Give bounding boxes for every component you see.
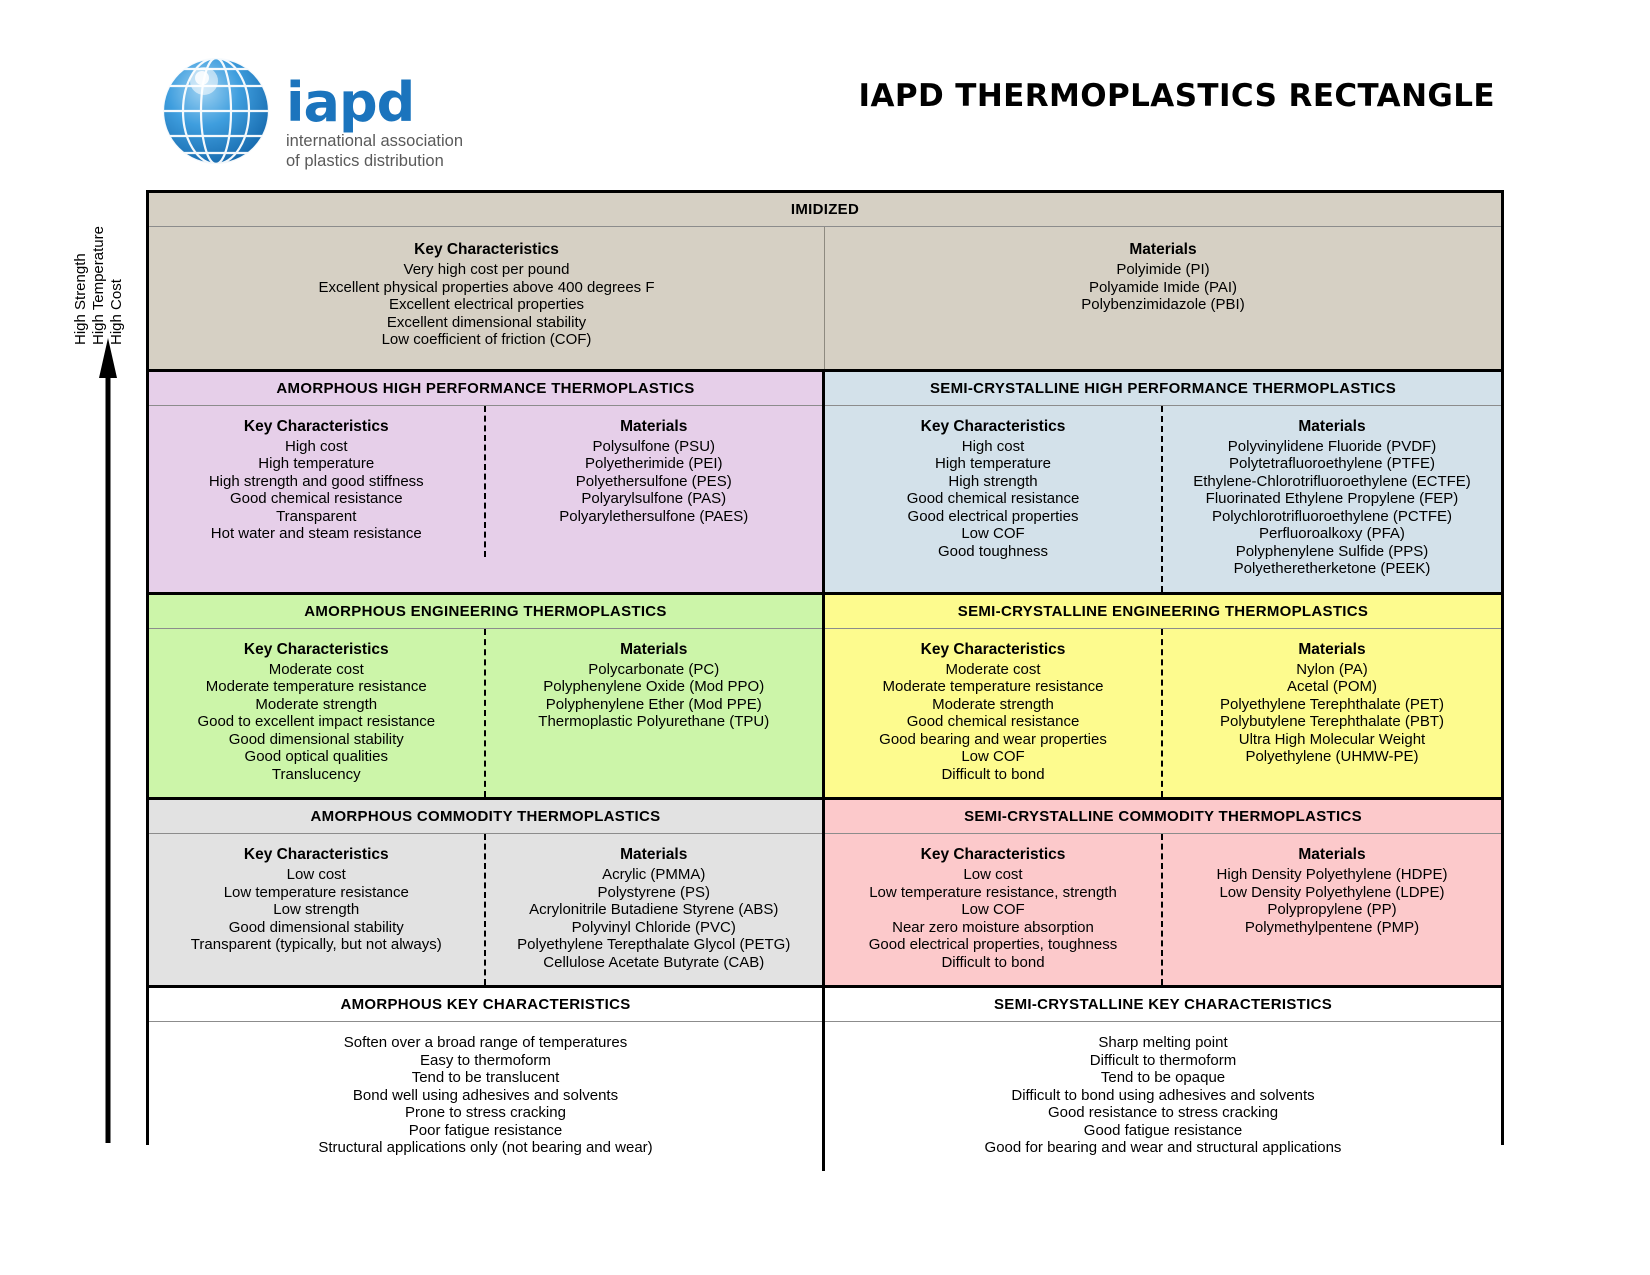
list-item: Fluorinated Ethylene Propylene (FEP) bbox=[1173, 490, 1491, 508]
list-item: Acrylonitrile Butadiene Styrene (ABS) bbox=[496, 901, 813, 919]
band-imidized: IMIDIZED Key Characteristics Very high c… bbox=[149, 193, 1501, 372]
list-item: Difficult to bond using adhesives and so… bbox=[835, 1087, 1491, 1105]
list-item: Polyetherimide (PEI) bbox=[496, 455, 813, 473]
list-item: Polyvinyl Chloride (PVC) bbox=[496, 919, 813, 937]
band-title-amorphous-high-performance: AMORPHOUS HIGH PERFORMANCE THERMOPLASTIC… bbox=[149, 372, 822, 406]
semicrystalline-high-performance: SEMI-CRYSTALLINE HIGH PERFORMANCE THERMO… bbox=[825, 372, 1501, 592]
list-item: High cost bbox=[835, 438, 1151, 456]
key-characteristics-cell: Key Characteristics High cost High tempe… bbox=[149, 406, 486, 557]
list-item: Low strength bbox=[159, 901, 474, 919]
list-item: Good electrical properties bbox=[835, 508, 1151, 526]
list-item: Polyethylene Terepthalate Glycol (PETG) bbox=[496, 936, 813, 954]
list-item: Bond well using adhesives and solvents bbox=[159, 1087, 812, 1105]
axis-label-high-temperature: High Temperature bbox=[90, 195, 108, 345]
list-item: Polyphenylene Sulfide (PPS) bbox=[1173, 543, 1491, 561]
key-characteristics-cell: Key Characteristics High cost High tempe… bbox=[825, 406, 1163, 592]
thermoplastics-rectangle-page: iapd international association of plasti… bbox=[0, 0, 1650, 1275]
amorphous-commodity: AMORPHOUS COMMODITY THERMOPLASTICS Key C… bbox=[149, 800, 825, 985]
cell-heading: Materials bbox=[1173, 418, 1491, 436]
list-item: Good to excellent impact resistance bbox=[159, 713, 474, 731]
amorphous-engineering: AMORPHOUS ENGINEERING THERMOPLASTICS Key… bbox=[149, 595, 825, 798]
list-item: Polyphenylene Oxide (Mod PPO) bbox=[496, 678, 813, 696]
list-item: Good chemical resistance bbox=[835, 490, 1151, 508]
list-item: Tend to be translucent bbox=[159, 1069, 812, 1087]
list-item: Good chemical resistance bbox=[835, 713, 1151, 731]
cell-heading: Key Characteristics bbox=[835, 846, 1151, 864]
materials-cell: Materials Polyvinylidene Fluoride (PVDF)… bbox=[1163, 406, 1501, 592]
list-item: Polybenzimidazole (PBI) bbox=[835, 296, 1491, 314]
list-item: Low cost bbox=[159, 866, 474, 884]
page-header: iapd international association of plasti… bbox=[0, 0, 1650, 190]
list-item: Sharp melting point bbox=[835, 1034, 1491, 1052]
materials-cell: Materials Acrylic (PMMA) Polystyrene (PS… bbox=[486, 834, 823, 985]
list-item: Cellulose Acetate Butyrate (CAB) bbox=[496, 954, 813, 972]
key-characteristics-cell: Key Characteristics Low cost Low tempera… bbox=[825, 834, 1163, 985]
band-key-characteristics-summary: AMORPHOUS KEY CHARACTERISTICS Soften ove… bbox=[149, 988, 1501, 1171]
list-item: Hot water and steam resistance bbox=[159, 525, 474, 543]
band-body: Key Characteristics Moderate cost Modera… bbox=[149, 629, 822, 798]
list-item: High strength bbox=[835, 473, 1151, 491]
thermoplastics-rectangle: IMIDIZED Key Characteristics Very high c… bbox=[146, 190, 1504, 1145]
list-item: Polybutylene Terephthalate (PBT) bbox=[1173, 713, 1491, 731]
list-item: Polyvinylidene Fluoride (PVDF) bbox=[1173, 438, 1491, 456]
list-item: Good dimensional stability bbox=[159, 919, 474, 937]
cell-heading: Materials bbox=[496, 418, 813, 436]
list-item: Moderate cost bbox=[835, 661, 1151, 679]
list-item: Good chemical resistance bbox=[159, 490, 474, 508]
page-title: IAPD THERMOPLASTICS RECTANGLE bbox=[859, 78, 1495, 114]
list-item: Polyetheretherketone (PEEK) bbox=[1173, 560, 1491, 578]
list-item: Excellent dimensional stability bbox=[159, 314, 814, 332]
list-item: Polystyrene (PS) bbox=[496, 884, 813, 902]
cell-heading: Key Characteristics bbox=[159, 846, 474, 864]
list-item: High temperature bbox=[159, 455, 474, 473]
list-item: Low temperature resistance, strength bbox=[835, 884, 1151, 902]
list-item: Low Density Polyethylene (LDPE) bbox=[1173, 884, 1491, 902]
axis-label-high-strength: High Strength bbox=[72, 195, 90, 345]
list-item: Polyethersulfone (PES) bbox=[496, 473, 813, 491]
list-item: Low cost bbox=[835, 866, 1151, 884]
list-item: Good toughness bbox=[835, 543, 1151, 561]
band-body-imidized: Key Characteristics Very high cost per p… bbox=[149, 227, 1501, 369]
amorphous-key-characteristics: AMORPHOUS KEY CHARACTERISTICS Soften ove… bbox=[149, 988, 825, 1171]
band-engineering: AMORPHOUS ENGINEERING THERMOPLASTICS Key… bbox=[149, 595, 1501, 801]
list-item: Transparent bbox=[159, 508, 474, 526]
list-item: Low COF bbox=[835, 525, 1151, 543]
band-body: Key Characteristics High cost High tempe… bbox=[825, 406, 1501, 592]
list-item: Moderate strength bbox=[835, 696, 1151, 714]
list-item: Polyimide (PI) bbox=[835, 261, 1491, 279]
cell-heading: Key Characteristics bbox=[159, 641, 474, 659]
materials-cell: Materials Polycarbonate (PC) Polyphenyle… bbox=[486, 629, 823, 798]
band-body: Key Characteristics Low cost Low tempera… bbox=[825, 834, 1501, 985]
logo-wordmark: iapd bbox=[286, 75, 463, 131]
iapd-logo: iapd international association of plasti… bbox=[160, 55, 463, 171]
list-item: Difficult to bond bbox=[835, 766, 1151, 784]
list-item: Polypropylene (PP) bbox=[1173, 901, 1491, 919]
band-high-performance: AMORPHOUS HIGH PERFORMANCE THERMOPLASTIC… bbox=[149, 372, 1501, 595]
list-item: Good electrical properties, toughness bbox=[835, 936, 1151, 954]
imidized-key-characteristics: Key Characteristics Very high cost per p… bbox=[149, 227, 825, 369]
list-item: Excellent physical properties above 400 … bbox=[159, 279, 814, 297]
list-item: Moderate temperature resistance bbox=[159, 678, 474, 696]
key-characteristics-cell: Key Characteristics Moderate cost Modera… bbox=[825, 629, 1163, 798]
list-item: High temperature bbox=[835, 455, 1151, 473]
cell-heading: Materials bbox=[496, 641, 813, 659]
cell-heading: Key Characteristics bbox=[159, 241, 814, 259]
band-body: Key Characteristics Low cost Low tempera… bbox=[149, 834, 822, 985]
band-title-semicrystalline-key-characteristics: SEMI-CRYSTALLINE KEY CHARACTERISTICS bbox=[825, 988, 1501, 1022]
band-body: Soften over a broad range of temperature… bbox=[149, 1022, 822, 1171]
list-item: Good optical qualities bbox=[159, 748, 474, 766]
list-item: Low temperature resistance bbox=[159, 884, 474, 902]
list-item: Low COF bbox=[835, 748, 1151, 766]
band-body: Key Characteristics High cost High tempe… bbox=[149, 406, 822, 557]
list-item: Polyarylsulfone (PAS) bbox=[496, 490, 813, 508]
list-item: Acrylic (PMMA) bbox=[496, 866, 813, 884]
logo-subtitle-line-1: international association bbox=[286, 131, 463, 151]
list-item: Very high cost per pound bbox=[159, 261, 814, 279]
amorphous-high-performance: AMORPHOUS HIGH PERFORMANCE THERMOPLASTIC… bbox=[149, 372, 825, 592]
list-item: Moderate cost bbox=[159, 661, 474, 679]
list-item: Translucency bbox=[159, 766, 474, 784]
list-item: High strength and good stiffness bbox=[159, 473, 474, 491]
list-item: Near zero moisture absorption bbox=[835, 919, 1151, 937]
imidized-materials: Materials Polyimide (PI) Polyamide Imide… bbox=[825, 227, 1501, 369]
semicrystalline-commodity: SEMI-CRYSTALLINE COMMODITY THERMOPLASTIC… bbox=[825, 800, 1501, 985]
list-item: Poor fatigue resistance bbox=[159, 1122, 812, 1140]
list-item: Tend to be opaque bbox=[835, 1069, 1491, 1087]
list-item: Structural applications only (not bearin… bbox=[159, 1139, 812, 1157]
cell-heading: Materials bbox=[496, 846, 813, 864]
cell-heading: Key Characteristics bbox=[835, 418, 1151, 436]
cell-heading: Key Characteristics bbox=[159, 418, 474, 436]
axis-label-high-cost: High Cost bbox=[108, 195, 126, 345]
band-title-amorphous-commodity: AMORPHOUS COMMODITY THERMOPLASTICS bbox=[149, 800, 822, 834]
list-item: Good bearing and wear properties bbox=[835, 731, 1151, 749]
list-item: Prone to stress cracking bbox=[159, 1104, 812, 1122]
list-item: Polyamide Imide (PAI) bbox=[835, 279, 1491, 297]
semicrystalline-key-characteristics: SEMI-CRYSTALLINE KEY CHARACTERISTICS Sha… bbox=[825, 988, 1501, 1171]
list-item: Ethylene-Chlorotrifluoroethylene (ECTFE) bbox=[1173, 473, 1491, 491]
band-title-amorphous-key-characteristics: AMORPHOUS KEY CHARACTERISTICS bbox=[149, 988, 822, 1022]
list-item: Polysulfone (PSU) bbox=[496, 438, 813, 456]
up-arrow-icon bbox=[98, 338, 118, 1143]
list-item: Polyphenylene Ether (Mod PPE) bbox=[496, 696, 813, 714]
materials-cell: Materials High Density Polyethylene (HDP… bbox=[1163, 834, 1501, 985]
list-item: Difficult to thermoform bbox=[835, 1052, 1491, 1070]
band-commodity: AMORPHOUS COMMODITY THERMOPLASTICS Key C… bbox=[149, 800, 1501, 988]
band-title-amorphous-engineering: AMORPHOUS ENGINEERING THERMOPLASTICS bbox=[149, 595, 822, 629]
band-body: Sharp melting point Difficult to thermof… bbox=[825, 1022, 1501, 1171]
cell-heading: Materials bbox=[1173, 641, 1491, 659]
materials-cell: Materials Polysulfone (PSU) Polyetherimi… bbox=[486, 406, 823, 557]
logo-subtitle-line-2: of plastics distribution bbox=[286, 151, 463, 171]
axis-label-group: High Strength High Temperature High Cost bbox=[72, 195, 142, 345]
list-item: Transparent (typically, but not always) bbox=[159, 936, 474, 954]
band-body: Key Characteristics Moderate cost Modera… bbox=[825, 629, 1501, 798]
high-performance-row: AMORPHOUS HIGH PERFORMANCE THERMOPLASTIC… bbox=[149, 372, 1501, 592]
list-item: Polyethylene (UHMW-PE) bbox=[1173, 748, 1491, 766]
list-item: Polyethylene Terephthalate (PET) bbox=[1173, 696, 1491, 714]
key-characteristics-cell: Key Characteristics Moderate cost Modera… bbox=[149, 629, 486, 798]
list-item: Polymethylpentene (PMP) bbox=[1173, 919, 1491, 937]
list-item: Polycarbonate (PC) bbox=[496, 661, 813, 679]
list-item: Moderate temperature resistance bbox=[835, 678, 1151, 696]
list-item: Nylon (PA) bbox=[1173, 661, 1491, 679]
list-item: Polychlorotrifluoroethylene (PCTFE) bbox=[1173, 508, 1491, 526]
list-item: High cost bbox=[159, 438, 474, 456]
list-item: Excellent electrical properties bbox=[159, 296, 814, 314]
materials-cell: Materials Nylon (PA) Acetal (POM) Polyet… bbox=[1163, 629, 1501, 798]
list-item: Low COF bbox=[835, 901, 1151, 919]
list-item: Moderate strength bbox=[159, 696, 474, 714]
engineering-row: AMORPHOUS ENGINEERING THERMOPLASTICS Key… bbox=[149, 595, 1501, 798]
list-item: Soften over a broad range of temperature… bbox=[159, 1034, 812, 1052]
list-item: Thermoplastic Polyurethane (TPU) bbox=[496, 713, 813, 731]
semicrystalline-engineering: SEMI-CRYSTALLINE ENGINEERING THERMOPLAST… bbox=[825, 595, 1501, 798]
cell-heading: Key Characteristics bbox=[835, 641, 1151, 659]
key-characteristics-cell: Key Characteristics Low cost Low tempera… bbox=[149, 834, 486, 985]
list-item: Good dimensional stability bbox=[159, 731, 474, 749]
cell-heading: Materials bbox=[835, 241, 1491, 259]
list-item: Ultra High Molecular Weight bbox=[1173, 731, 1491, 749]
list-item: Polytetrafluoroethylene (PTFE) bbox=[1173, 455, 1491, 473]
key-characteristics-row: AMORPHOUS KEY CHARACTERISTICS Soften ove… bbox=[149, 988, 1501, 1171]
band-title-semicrystalline-commodity: SEMI-CRYSTALLINE COMMODITY THERMOPLASTIC… bbox=[825, 800, 1501, 834]
list-item: Good fatigue resistance bbox=[835, 1122, 1491, 1140]
cell-heading: Materials bbox=[1173, 846, 1491, 864]
list-item: Difficult to bond bbox=[835, 954, 1151, 972]
property-axis: High Strength High Temperature High Cost bbox=[72, 190, 142, 1145]
list-item: Low coefficient of friction (COF) bbox=[159, 331, 814, 349]
list-item: Good resistance to stress cracking bbox=[835, 1104, 1491, 1122]
list-item: Good for bearing and wear and structural… bbox=[835, 1139, 1491, 1157]
logo-text-block: iapd international association of plasti… bbox=[286, 55, 463, 171]
list-item: Polyarylethersulfone (PAES) bbox=[496, 508, 813, 526]
globe-icon bbox=[160, 55, 272, 167]
commodity-row: AMORPHOUS COMMODITY THERMOPLASTICS Key C… bbox=[149, 800, 1501, 985]
band-title-imidized: IMIDIZED bbox=[149, 193, 1501, 227]
list-item: Perfluoroalkoxy (PFA) bbox=[1173, 525, 1491, 543]
list-item: High Density Polyethylene (HDPE) bbox=[1173, 866, 1491, 884]
list-item: Easy to thermoform bbox=[159, 1052, 812, 1070]
band-title-semicrystalline-engineering: SEMI-CRYSTALLINE ENGINEERING THERMOPLAST… bbox=[825, 595, 1501, 629]
list-item: Acetal (POM) bbox=[1173, 678, 1491, 696]
band-title-semicrystalline-high-performance: SEMI-CRYSTALLINE HIGH PERFORMANCE THERMO… bbox=[825, 372, 1501, 406]
